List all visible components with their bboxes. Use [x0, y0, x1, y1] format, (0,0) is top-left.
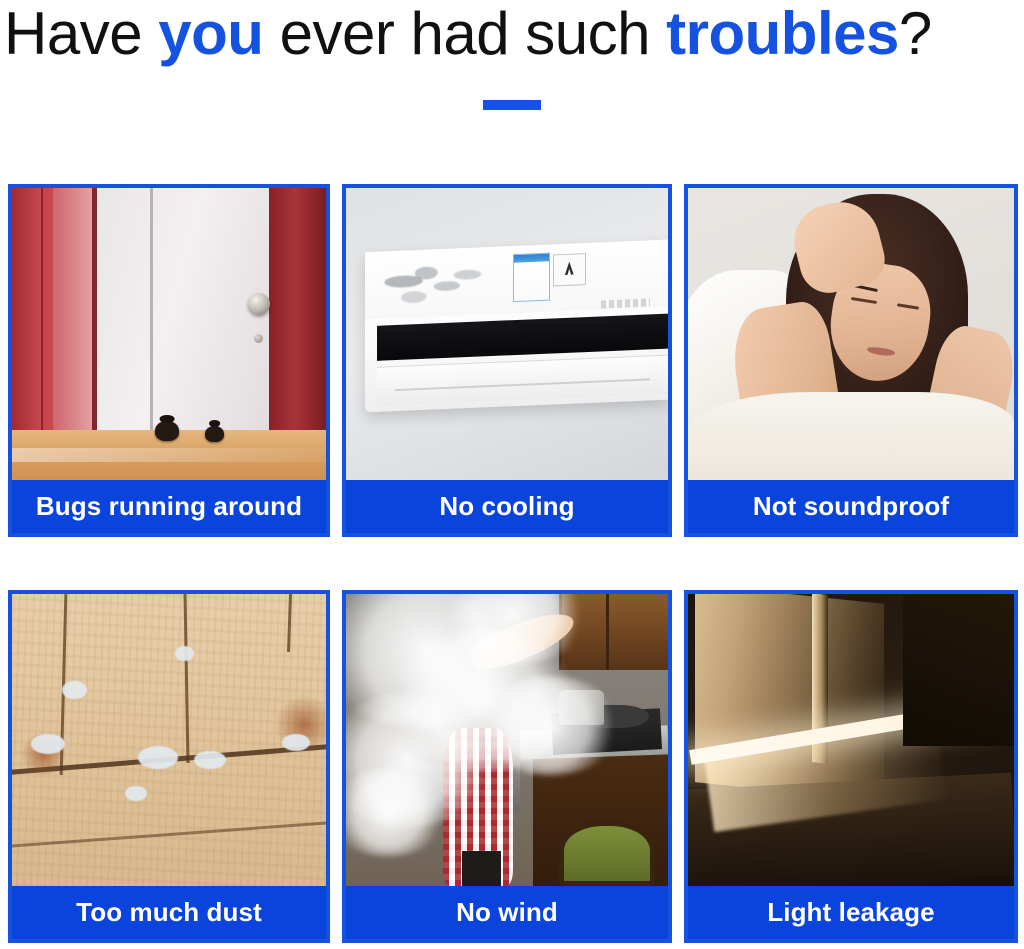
label-glyph-icon [565, 262, 574, 276]
card-caption-no-wind: No wind [346, 886, 668, 939]
dusty-floor-photo [12, 594, 326, 886]
door-knob-icon [248, 293, 270, 315]
door-seam [150, 188, 153, 433]
person-legs [462, 851, 501, 886]
bug-icon [155, 421, 179, 441]
cabinet-door-line [606, 594, 609, 670]
trouble-card-no-cooling[interactable]: No cooling [342, 184, 672, 537]
headline-part-3: ever had such [263, 0, 666, 67]
dust-clump [125, 786, 147, 801]
ac-unit [365, 240, 668, 413]
card-caption-light-leakage: Light leakage [688, 886, 1014, 939]
trouble-card-too-much-dust[interactable]: Too much dust [8, 590, 330, 943]
card-caption-too-much-dust: Too much dust [12, 886, 326, 939]
card-caption-bugs: Bugs running around [12, 480, 326, 533]
air-conditioner-photo [346, 188, 668, 480]
door-frame-right [269, 188, 326, 433]
card-caption-no-cooling: No cooling [346, 480, 668, 533]
green-chair [559, 821, 656, 885]
ac-air-vent [377, 355, 668, 406]
red-door-panel-a [12, 188, 43, 433]
smoke-cloud [475, 676, 623, 775]
dust-clump [138, 746, 179, 769]
light-leak-photo [688, 594, 1014, 886]
noise-photo [688, 188, 1014, 480]
headline-part-4-accent: troubles [666, 0, 899, 67]
card-caption-not-soundproof: Not soundproof [688, 480, 1014, 533]
ac-floral-pattern [383, 262, 486, 308]
trouble-card-no-wind[interactable]: No wind [342, 590, 672, 943]
certification-label [553, 253, 586, 286]
bug-icon [205, 426, 224, 442]
smoky-kitchen-photo [346, 594, 668, 886]
dust-clump [194, 751, 225, 768]
door-lock-icon [254, 334, 263, 343]
bugs-photo [12, 188, 326, 480]
page-title: Have you ever had such troubles? [0, 0, 1024, 70]
trouble-card-grid: Bugs running around N [8, 184, 1018, 943]
energy-label-blue [514, 253, 550, 303]
ac-display-strip [377, 314, 668, 361]
trouble-card-light-leakage[interactable]: Light leakage [684, 590, 1018, 943]
trouble-card-bugs[interactable]: Bugs running around [8, 184, 330, 537]
promo-page: Have you ever had such troubles? Bugs r [0, 0, 1024, 949]
bed-blanket [688, 392, 1014, 480]
trouble-card-not-soundproof[interactable]: Not soundproof [684, 184, 1018, 537]
headline-part-1: Have [4, 0, 158, 67]
divider-container [0, 100, 1024, 110]
floor-sheen [12, 448, 326, 463]
ac-vent-line [395, 379, 651, 392]
white-door-leaf [94, 188, 270, 433]
blue-dash-divider [483, 100, 541, 110]
red-door-panel-b [53, 188, 94, 433]
dark-wall [903, 594, 1014, 746]
headline-part-5: ? [899, 0, 932, 67]
headline-part-2-accent: you [158, 0, 263, 67]
